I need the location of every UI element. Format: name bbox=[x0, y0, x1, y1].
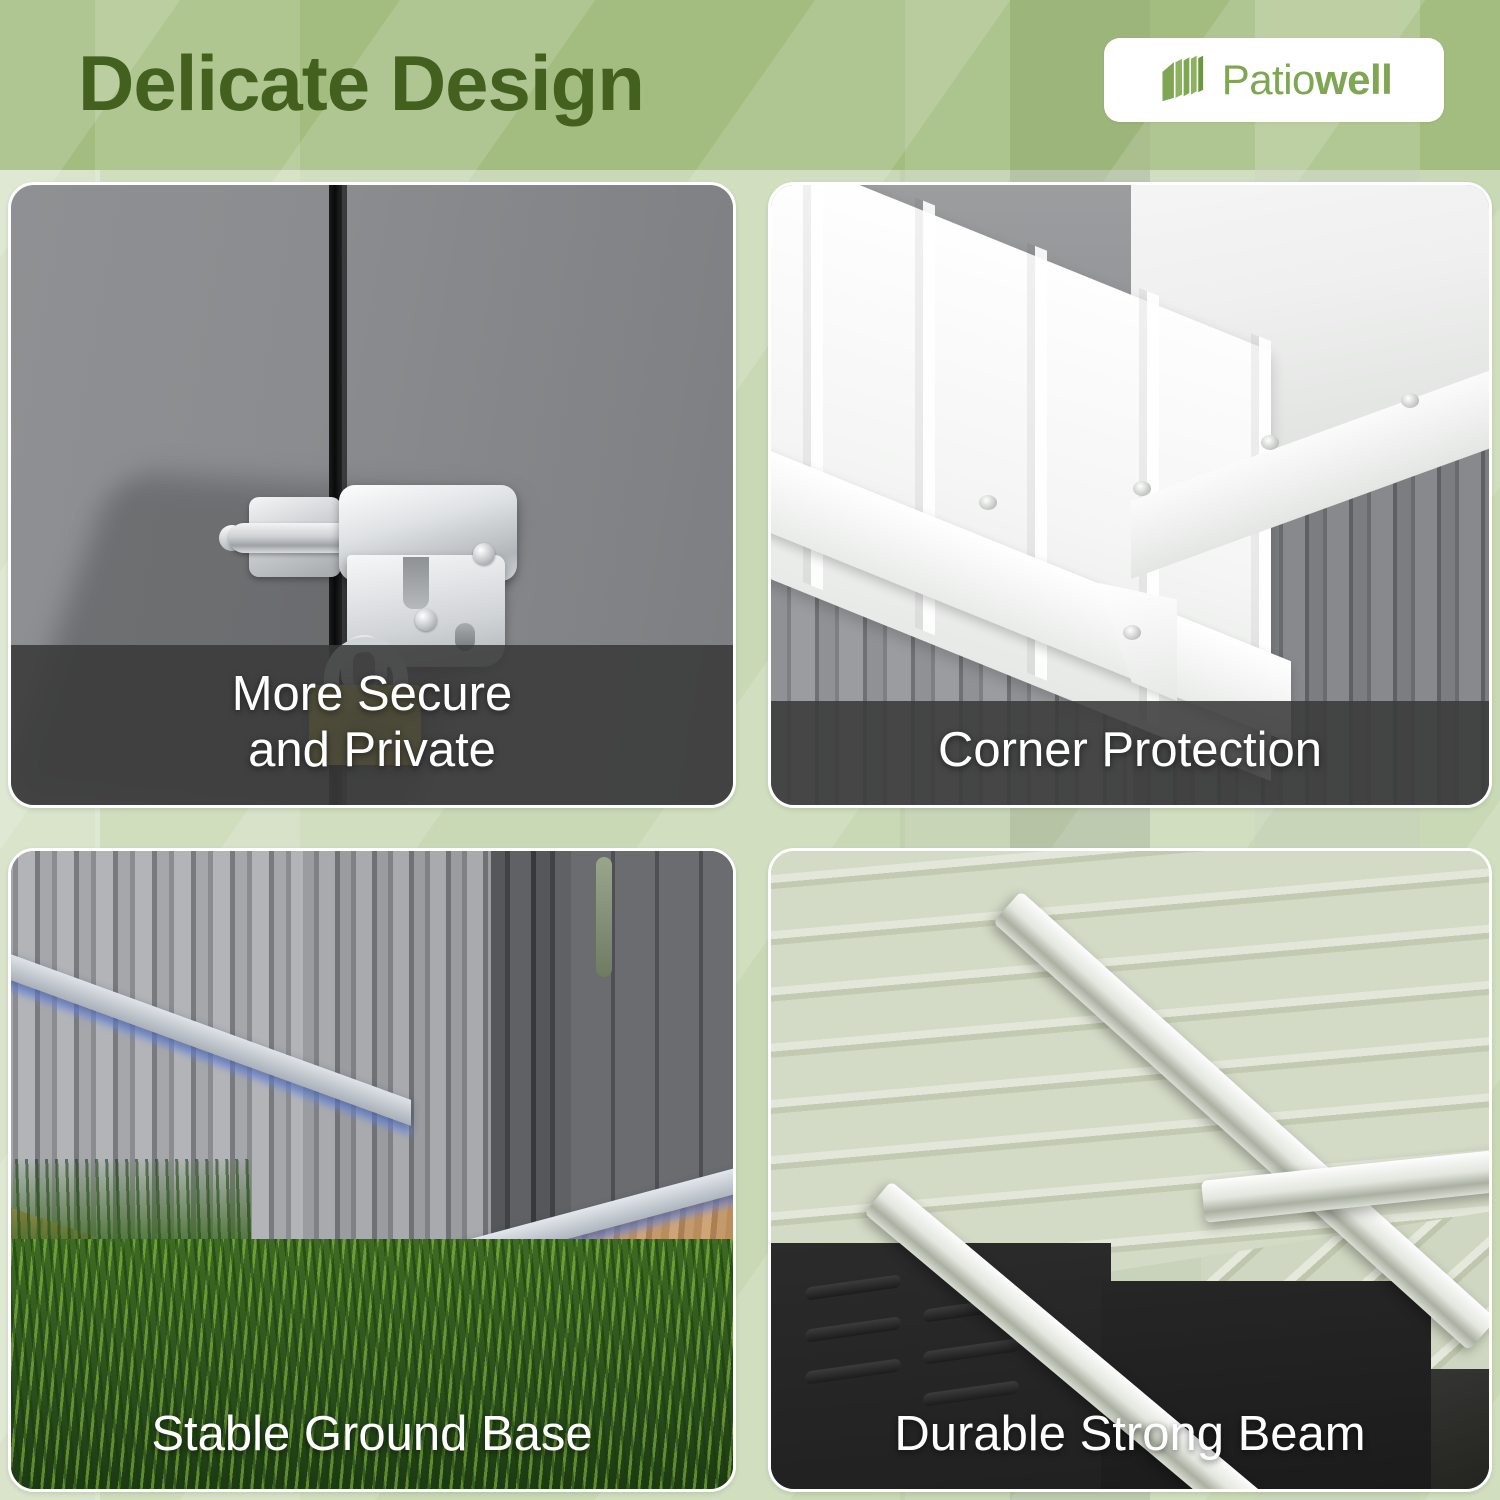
panel-caption: More Secure and Private bbox=[11, 645, 733, 805]
feature-panel-more-secure-and-private[interactable]: More Secure and Private bbox=[8, 182, 736, 808]
brand-logo: Patiowell bbox=[1104, 38, 1444, 122]
brand-name-light: Patio bbox=[1222, 56, 1315, 103]
roof-screw bbox=[1123, 625, 1141, 640]
latch-rivet bbox=[415, 609, 437, 631]
latch-plate-notch bbox=[403, 557, 429, 609]
brand-name-bold: well bbox=[1315, 56, 1392, 103]
panel-caption: Corner Protection bbox=[771, 701, 1489, 805]
feature-grid: More Secure and Private bbox=[8, 182, 1492, 1492]
latch-rivet bbox=[473, 543, 495, 565]
roof-screw bbox=[1133, 481, 1151, 496]
caption-line-1: More Secure bbox=[232, 667, 513, 721]
caption-line-1: Durable Strong Beam bbox=[894, 1407, 1365, 1461]
feature-panel-durable-strong-beam[interactable]: Durable Strong Beam bbox=[768, 848, 1492, 1492]
page-title: Delicate Design bbox=[78, 44, 644, 122]
page-header: Delicate Design Patiowell bbox=[0, 0, 1500, 175]
caption-line-2: and Private bbox=[37, 723, 707, 779]
roof-screw bbox=[1261, 435, 1279, 450]
roof-screw bbox=[1401, 393, 1419, 408]
brand-logo-text: Patiowell bbox=[1222, 56, 1393, 104]
roof-screw bbox=[979, 495, 997, 510]
feature-panel-stable-ground-base[interactable]: Stable Ground Base bbox=[8, 848, 736, 1492]
caption-line-1: Stable Ground Base bbox=[151, 1407, 592, 1461]
panel-caption: Stable Ground Base bbox=[11, 1385, 733, 1489]
caption-line-1: Corner Protection bbox=[938, 723, 1322, 777]
infographic-page: Delicate Design Patiowell bbox=[0, 0, 1500, 1500]
patiowell-book-mark-icon bbox=[1156, 54, 1208, 106]
door-hinge bbox=[596, 857, 612, 977]
panel-caption: Durable Strong Beam bbox=[771, 1385, 1489, 1489]
feature-panel-corner-protection[interactable]: Corner Protection bbox=[768, 182, 1492, 808]
